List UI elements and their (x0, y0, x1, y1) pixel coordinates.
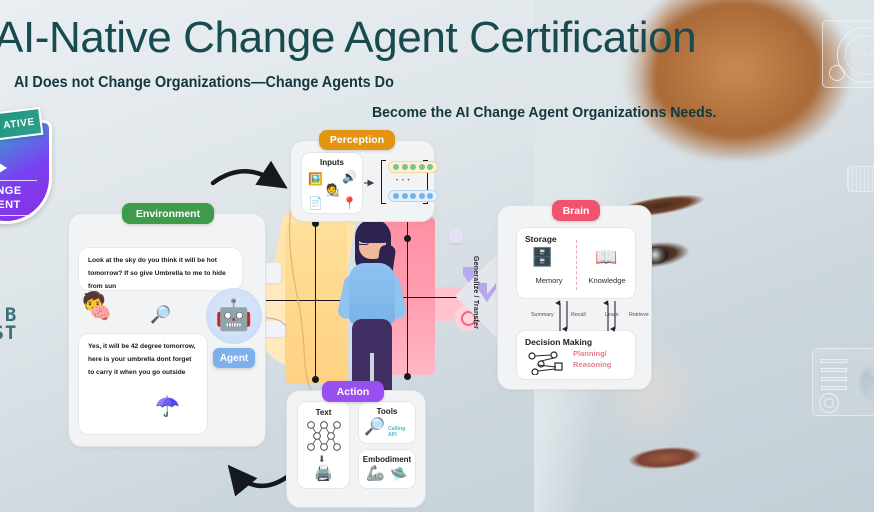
person-icon: 🧑‍🎨 (325, 184, 340, 196)
decision-making-card: Decision Making Planning/ Reasoning (516, 330, 636, 380)
down-arrow-icon: ⬇ (318, 454, 326, 465)
memory-label: Memory (525, 276, 573, 285)
text-title: Text (298, 408, 349, 417)
web-search-icon: 🔎 (364, 418, 385, 435)
storage-title: Storage (525, 234, 557, 244)
page-title: AI-Native Change Agent Certification (0, 16, 696, 60)
perception-arrow (364, 178, 378, 188)
illustrated-person (337, 219, 407, 395)
audio-icon: 🔊 (342, 171, 357, 183)
badge-line-2: ENT (0, 199, 52, 211)
user-message-bubble: Look at the sky do you think it will be … (78, 247, 243, 291)
flow-label-retrieve: Retrieve (629, 312, 649, 318)
database-icon: 🗄️ (531, 248, 553, 266)
embodiment-title: Embodiment (359, 455, 415, 464)
generalize-transfer-label: Generalize / Transfer (472, 256, 479, 329)
calling-api-caption: Calling API (388, 426, 415, 438)
knowledge-label: Knowledge (581, 276, 633, 285)
globe-hud-icon (812, 348, 874, 416)
badge-line-1: NGE (0, 185, 52, 197)
neural-net-icon (304, 420, 346, 452)
environment-pill[interactable]: Environment (122, 203, 214, 224)
inputs-card: Inputs 🖼️ 🔊 🧑‍🎨 📄 📍 (301, 152, 363, 214)
embedding-row-top (388, 161, 438, 173)
web-search-emoji: 🔎 (150, 306, 171, 323)
action-pill[interactable]: Action (322, 381, 384, 402)
location-icon: 📍 (342, 197, 357, 209)
embodiment-card: Embodiment 🦾 🛸 (358, 449, 416, 489)
text-card: Text ⬇ 🖨️ (297, 401, 350, 489)
tools-title: Tools (359, 407, 415, 416)
flowchart-icon (527, 351, 567, 375)
planning-reasoning-label: Planning/ Reasoning (573, 349, 611, 371)
agent-message-bubble: Yes, it will be 42 degree tomorrow, here… (78, 333, 208, 435)
brain-chip-hud-icon (847, 166, 874, 192)
document-icon: 📄 (308, 197, 323, 209)
body-scan-hud-icon (822, 20, 874, 88)
page-tagline: Become the AI Change Agent Organizations… (372, 104, 716, 121)
embedding-row-bottom (388, 190, 438, 202)
agent-pill[interactable]: Agent (213, 348, 255, 368)
tools-card: Tools 🔎 Calling API (358, 401, 416, 444)
flow-label-learn: Learn (605, 312, 619, 318)
brandmark: L B IST (0, 306, 17, 342)
storage-divider (576, 240, 577, 290)
flow-label-summary: Summary (531, 312, 554, 318)
embedding-ellipsis: • • • (396, 178, 411, 184)
poster-canvas: AI-Native Change Agent Certification AI … (0, 0, 874, 512)
image-icon: 🖼️ (308, 173, 323, 185)
printer-icon: 🖨️ (314, 466, 333, 481)
drone-icon: 🛸 (390, 467, 407, 481)
perception-pill[interactable]: Perception (319, 130, 395, 150)
robot-arm-icon: 🦾 (366, 466, 385, 481)
brandmark-line-2: IST (0, 324, 17, 342)
inputs-title: Inputs (302, 158, 362, 167)
robot-avatar-icon: 🤖 (206, 288, 262, 344)
open-book-icon: 📖 (595, 248, 617, 266)
flow-label-recall: Recall (571, 312, 586, 318)
umbrella-emoji: ☂️ (155, 397, 180, 417)
decision-title: Decision Making (525, 337, 592, 347)
play-icon (0, 159, 7, 177)
page-subtitle: AI Does not Change Organizations—Change … (14, 74, 394, 92)
brain-pill[interactable]: Brain (552, 200, 600, 221)
brain-emoji: 🧠 (90, 305, 111, 322)
